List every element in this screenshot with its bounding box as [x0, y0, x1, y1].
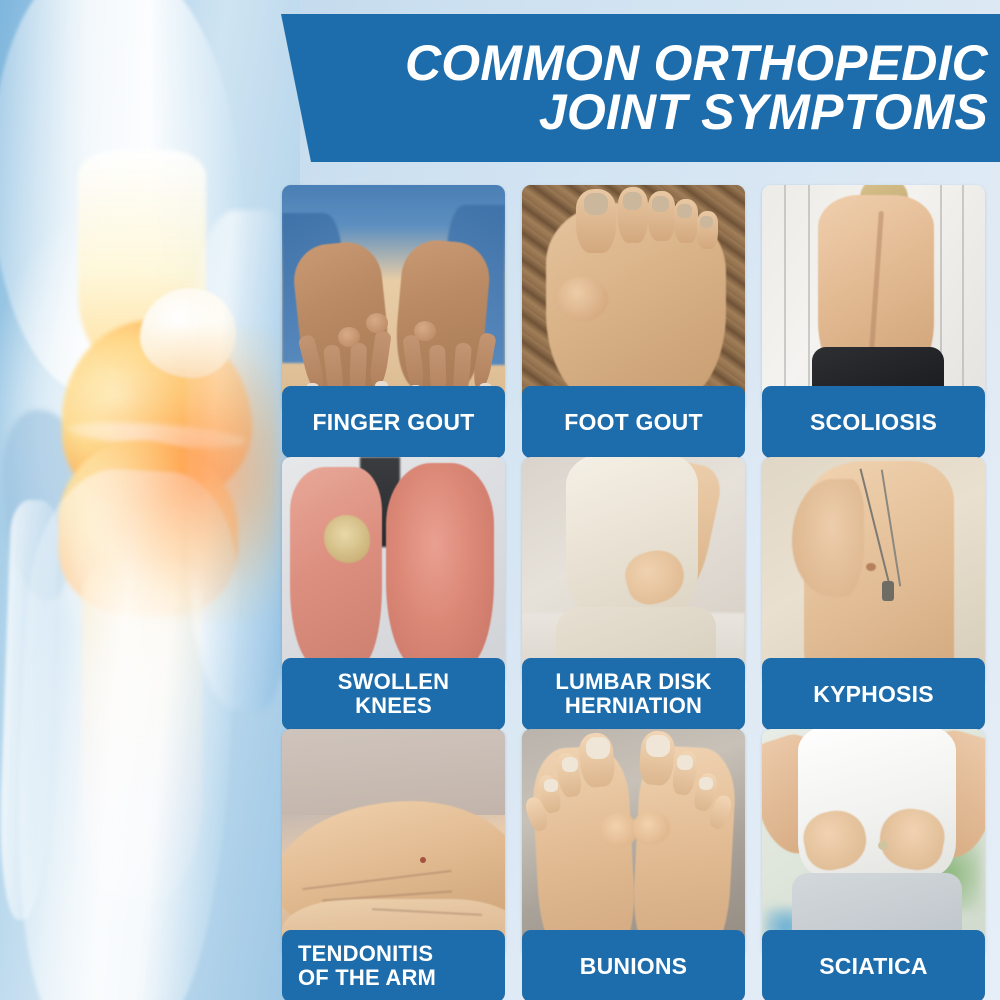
- photo-kyphosis: [762, 457, 985, 685]
- card-label-foot-gout: FOOT GOUT: [522, 386, 745, 458]
- symptom-card-finger-gout[interactable]: FINGER GOUT: [282, 185, 505, 413]
- photo-scoliosis: [762, 185, 985, 413]
- symptom-card-foot-gout[interactable]: FOOT GOUT: [522, 185, 745, 413]
- symptom-card-swollen-knees[interactable]: SWOLLEN KNEES: [282, 457, 505, 685]
- photo-foot-gout: [522, 185, 745, 413]
- symptom-card-scoliosis[interactable]: SCOLIOSIS: [762, 185, 985, 413]
- poster-root: COMMON ORTHOPEDIC JOINT SYMPTOMS: [0, 0, 1000, 1000]
- card-label-sciatica: SCIATICA: [762, 930, 985, 1000]
- card-label-finger-gout: FINGER GOUT: [282, 386, 505, 458]
- photo-swollen-knees: [282, 457, 505, 685]
- card-label-bunions: BUNIONS: [522, 930, 745, 1000]
- photo-sciatica: [762, 729, 985, 957]
- card-label-lumbar-disk-herniation: LUMBAR DISK HERNIATION: [522, 658, 745, 730]
- photo-tendonitis-of-the-arm: [282, 729, 505, 957]
- symptom-card-kyphosis[interactable]: KYPHOSIS: [762, 457, 985, 685]
- card-label-swollen-knees: SWOLLEN KNEES: [282, 658, 505, 730]
- photo-lumbar-disk-herniation: [522, 457, 745, 685]
- photo-bunions: [522, 729, 745, 957]
- symptom-card-grid: FINGER GOUT FO: [282, 185, 985, 957]
- card-label-tendonitis-of-the-arm: TENDONITIS OF THE ARM: [282, 930, 505, 1000]
- symptom-card-sciatica[interactable]: SCIATICA: [762, 729, 985, 957]
- symptom-card-lumbar-disk-herniation[interactable]: LUMBAR DISK HERNIATION: [522, 457, 745, 685]
- page-title: COMMON ORTHOPEDIC JOINT SYMPTOMS: [405, 39, 992, 138]
- knee-anatomy-illustration: [0, 0, 300, 1000]
- card-label-scoliosis: SCOLIOSIS: [762, 386, 985, 458]
- photo-finger-gout: [282, 185, 505, 413]
- card-label-kyphosis: KYPHOSIS: [762, 658, 985, 730]
- symptom-card-tendonitis-of-the-arm[interactable]: TENDONITIS OF THE ARM: [282, 729, 505, 957]
- symptom-card-bunions[interactable]: BUNIONS: [522, 729, 745, 957]
- inflammation-glow: [70, 330, 280, 620]
